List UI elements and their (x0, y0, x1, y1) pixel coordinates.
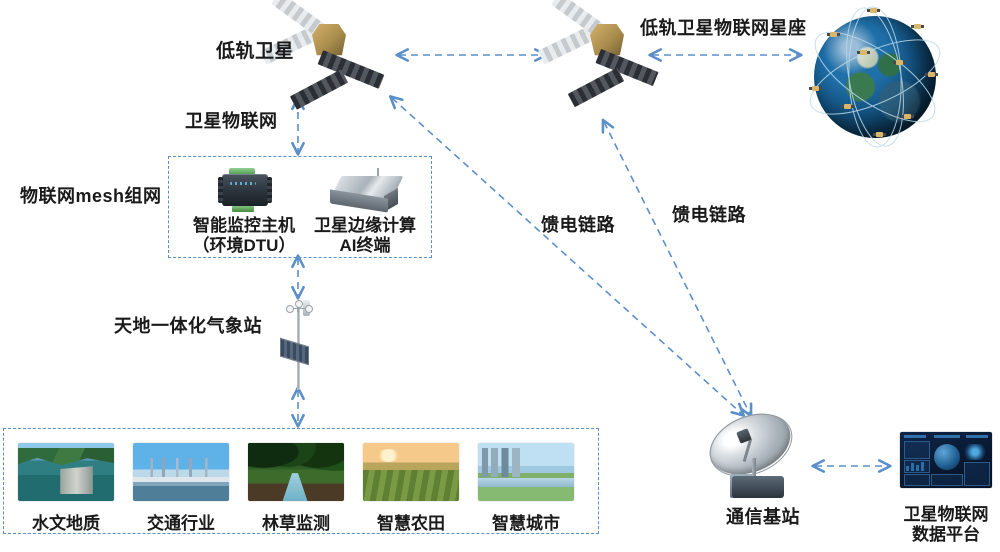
data-platform-line1: 卫星物联网 (886, 505, 1000, 525)
scenario-label: 水文地质 (18, 509, 114, 534)
link-leftsat-to-basestation (392, 98, 742, 414)
edge-ai-label-name: 卫星边缘计算 (305, 216, 425, 236)
diagram-canvas: 智能监控主机 （环境DTU） 卫星边缘计算 AI终端 (0, 0, 1000, 552)
data-platform-line2: 数据平台 (886, 525, 1000, 545)
scenario-label: 智慧城市 (478, 509, 574, 534)
leo-constellation-globe-icon (800, 2, 950, 152)
label-data-platform: 卫星物联网 数据平台 (886, 505, 1000, 545)
edge-ai-label-sub: AI终端 (305, 236, 425, 256)
scenario-card-water[interactable]: 水文地质 (18, 443, 114, 534)
bridge-traffic-thumbnail (133, 443, 229, 501)
label-leo-satellite: 低轨卫星 (216, 41, 294, 63)
scenario-card-traffic[interactable]: 交通行业 (133, 443, 229, 534)
scenario-label: 林草监测 (248, 509, 344, 534)
scenario-label: 交通行业 (133, 509, 229, 534)
scenario-card-city[interactable]: 智慧城市 (478, 443, 574, 534)
scenario-card-farm[interactable]: 智慧农田 (363, 443, 459, 534)
label-feeder-link-left: 馈电链路 (541, 215, 615, 236)
dtu-device-icon (216, 168, 274, 212)
forest-thumbnail (248, 443, 344, 501)
label-satellite-iot: 卫星物联网 (185, 111, 278, 132)
label-leo-constellation: 低轨卫星物联网星座 (640, 18, 807, 39)
water-conservancy-thumbnail (18, 443, 114, 501)
label-feeder-link-right: 馈电链路 (672, 205, 746, 226)
scenario-label: 智慧农田 (363, 509, 459, 534)
label-base-station: 通信基站 (726, 507, 800, 528)
data-platform-screen-icon (900, 432, 992, 488)
label-iot-mesh: 物联网mesh组网 (20, 186, 162, 207)
weather-station-icon (276, 298, 322, 394)
smart-city-thumbnail (478, 443, 574, 501)
base-station-dish-icon (708, 414, 804, 506)
link-rightsat-to-basestation (604, 122, 750, 414)
scenario-card-forest[interactable]: 林草监测 (248, 443, 344, 534)
smart-farm-thumbnail (363, 443, 459, 501)
edge-ai-box-icon (330, 168, 402, 214)
dtu-label-sub: （环境DTU） (184, 236, 304, 256)
label-weather-station: 天地一体化气象站 (114, 316, 262, 337)
dtu-label-name: 智能监控主机 (184, 216, 304, 236)
